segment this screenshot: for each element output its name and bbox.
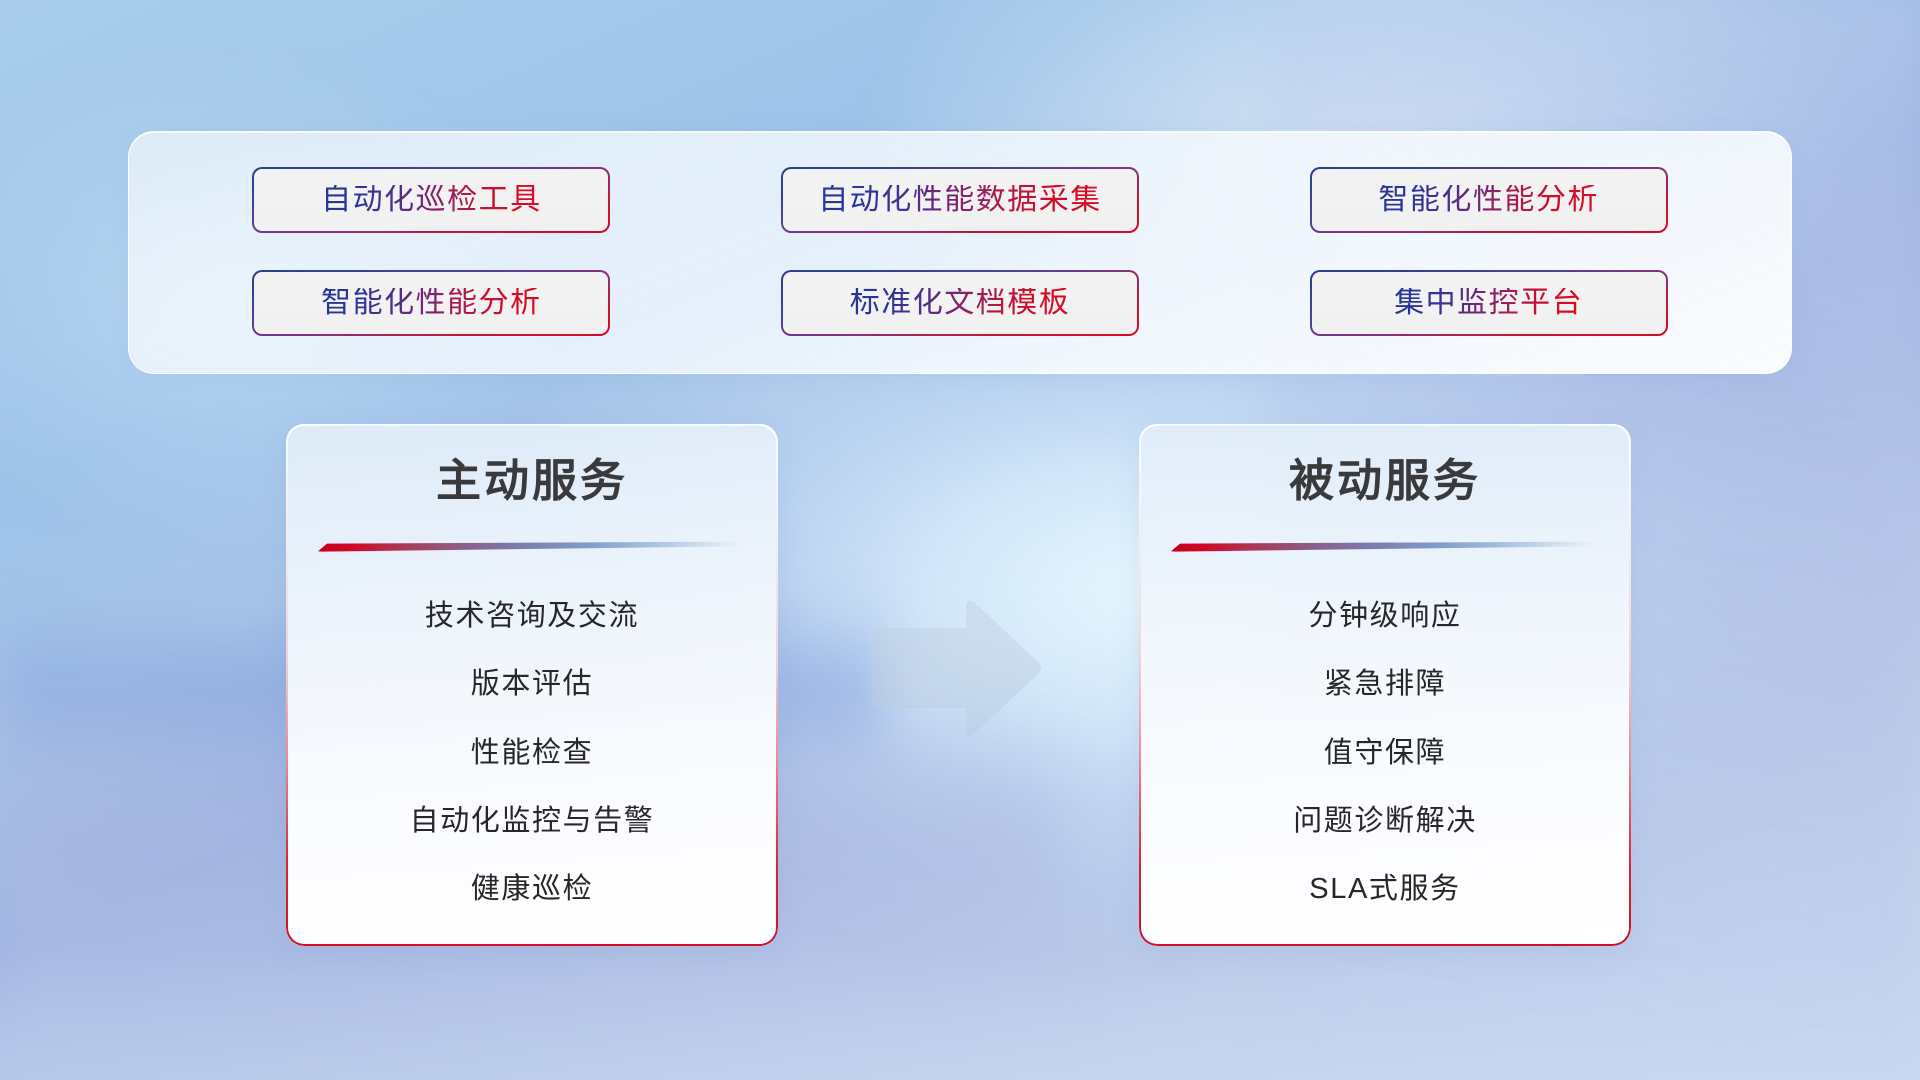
service-card-proactive: 主动服务 技术咨询及交流 版本评估 性能检查 自动化监控与告警 健康巡检 (286, 424, 778, 946)
capability-pill-1[interactable]: 自动化巡检工具 (252, 167, 610, 233)
card-list-item: 分钟级响应 (1308, 599, 1461, 634)
background-bottom-fade (0, 950, 1920, 1080)
capability-pill-label: 标准化文档模板 (850, 288, 1071, 318)
capability-pill-3[interactable]: 智能化性能分析 (1310, 167, 1668, 233)
card-list-item: SLA式服务 (1309, 872, 1460, 907)
card-list-item: 值守保障 (1324, 736, 1446, 771)
capability-pill-label: 自动化巡检工具 (321, 185, 542, 215)
capability-pill-label: 自动化性能数据采集 (818, 185, 1102, 215)
arrow-right-icon (868, 598, 1044, 740)
capability-pill-label: 智能化性能分析 (1378, 185, 1599, 215)
card-list-item: 问题诊断解决 (1293, 804, 1477, 839)
card-list-item: 技术咨询及交流 (425, 599, 639, 634)
card-item-list: 分钟级响应 紧急排障 值守保障 问题诊断解决 SLA式服务 (1139, 582, 1631, 924)
card-title: 被动服务 (1139, 454, 1631, 507)
service-card-reactive: 被动服务 分钟级响应 紧急排障 值守保障 问题诊断解决 SLA式服务 (1139, 424, 1631, 946)
capability-pill-grid: 自动化巡检工具 自动化性能数据采集 智能化性能分析 智能化性能分析 标准化文档模… (129, 132, 1791, 373)
card-list-item: 紧急排障 (1324, 667, 1446, 702)
card-list-item: 版本评估 (471, 667, 593, 702)
card-title: 主动服务 (286, 454, 778, 507)
card-divider-gradient-rule (1171, 541, 1599, 552)
capability-pill-label: 智能化性能分析 (321, 288, 542, 318)
capability-panel: 自动化巡检工具 自动化性能数据采集 智能化性能分析 智能化性能分析 标准化文档模… (128, 131, 1792, 374)
capability-pill-label: 集中监控平台 (1394, 288, 1583, 318)
capability-pill-6[interactable]: 集中监控平台 (1310, 270, 1668, 336)
capability-pill-2[interactable]: 自动化性能数据采集 (781, 167, 1139, 233)
card-divider-gradient-rule (318, 541, 746, 552)
card-list-item: 性能检查 (471, 736, 593, 771)
card-item-list: 技术咨询及交流 版本评估 性能检查 自动化监控与告警 健康巡检 (286, 582, 778, 924)
capability-pill-4[interactable]: 智能化性能分析 (252, 270, 610, 336)
capability-pill-5[interactable]: 标准化文档模板 (781, 270, 1139, 336)
card-list-item: 自动化监控与告警 (410, 804, 655, 839)
card-list-item: 健康巡检 (471, 872, 593, 907)
